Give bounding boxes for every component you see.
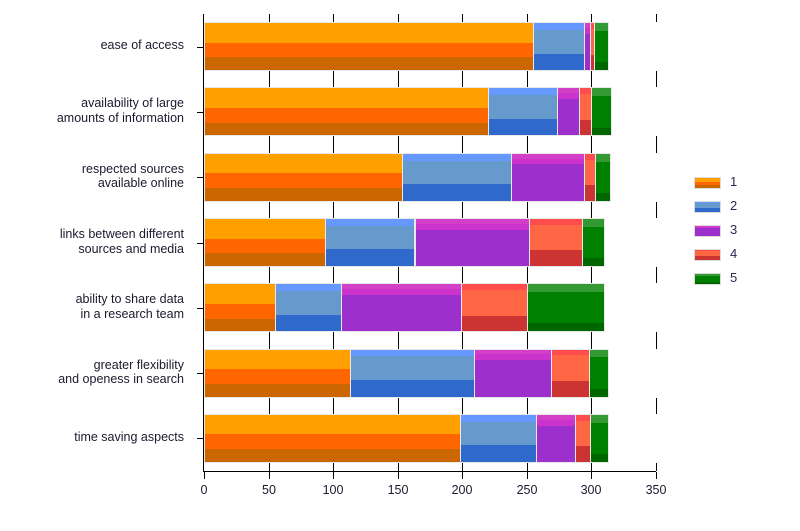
- bar-segment: [582, 218, 605, 267]
- category-label: availability of large amounts of informa…: [57, 96, 184, 125]
- bar-segment-shade: [576, 446, 590, 463]
- category-axis-labels: ease of accessavailability of large amou…: [0, 0, 196, 531]
- gridline-segment: [462, 267, 463, 283]
- bar-segment-shade: [205, 219, 325, 239]
- x-axis-tick: [398, 472, 399, 479]
- gridline-segment: [462, 332, 463, 348]
- gridline-segment: [591, 463, 592, 471]
- bar-segment-shade: [595, 62, 608, 71]
- gridline-segment: [398, 202, 399, 218]
- gridline-segment: [398, 398, 399, 414]
- bar-segment-shade: [585, 160, 596, 186]
- gridline-segment: [269, 14, 270, 22]
- gridline-segment: [398, 71, 399, 87]
- gridline-segment: [527, 71, 528, 87]
- y-axis-tick: [197, 308, 204, 309]
- x-axis-tick: [462, 472, 463, 479]
- bar-segment-shade: [205, 123, 488, 137]
- bar-segment-shade: [583, 258, 604, 267]
- bar-segment-shade: [205, 43, 533, 58]
- bar-segment-shade: [512, 164, 583, 201]
- gridline-segment: [462, 136, 463, 152]
- bar-segment-shade: [534, 30, 583, 54]
- x-axis-tick: [656, 472, 657, 479]
- bar-segment-shade: [276, 315, 341, 333]
- legend-swatch: [694, 225, 721, 237]
- gridline-segment: [269, 202, 270, 218]
- bar-segment-shade: [530, 250, 582, 267]
- legend-item[interactable]: 3: [694, 221, 790, 245]
- gridline-segment: [527, 136, 528, 152]
- bar-segment-shade: [489, 119, 556, 137]
- bar-segment-shade: [205, 284, 275, 304]
- bar-segment-shade: [461, 422, 536, 446]
- bar-segment: [204, 22, 534, 71]
- bar-segment: [204, 349, 351, 398]
- bar-segment: [341, 283, 462, 332]
- legend-swatch-shade: [695, 282, 720, 285]
- legend-label: 4: [730, 246, 737, 261]
- bar-segment-shade: [416, 230, 530, 267]
- legend-swatch-shade: [695, 228, 720, 236]
- bar-segment: [551, 349, 589, 398]
- bar-segment-shade: [552, 355, 588, 381]
- legend-swatch-shade: [695, 208, 720, 212]
- gridline-segment: [591, 136, 592, 152]
- bar-segment-shade: [205, 415, 460, 435]
- bar-segment: [204, 87, 489, 136]
- x-axis-line: [204, 471, 656, 472]
- bar-segment-shade: [205, 304, 275, 319]
- bar-segment-shade: [590, 357, 608, 389]
- bar-segment: [204, 153, 403, 202]
- bar-segment: [590, 414, 609, 463]
- x-axis-tick-label: 350: [646, 483, 667, 497]
- gridline-segment: [591, 202, 592, 218]
- bar-segment: [536, 414, 576, 463]
- y-axis-tick: [197, 373, 204, 374]
- bar-segment: [594, 22, 609, 71]
- bar-segment: [275, 283, 342, 332]
- gridline-segment: [333, 14, 334, 22]
- bar-segment-shade: [351, 356, 474, 380]
- bar-segment-shade: [205, 88, 488, 108]
- legend-swatch-shade: [695, 185, 720, 189]
- gridline-segment: [333, 463, 334, 471]
- gridline-segment: [333, 202, 334, 218]
- bar-segment-shade: [585, 185, 596, 202]
- bar-segment-shade: [530, 225, 582, 251]
- bar-segment-shade: [205, 319, 275, 333]
- gridline-segment: [656, 14, 657, 22]
- bar-segment: [325, 218, 415, 267]
- category-label: ease of access: [101, 38, 184, 53]
- y-axis-tick: [197, 438, 204, 439]
- gridline-segment: [462, 14, 463, 22]
- bar-segment: [591, 87, 611, 136]
- x-axis-tick: [269, 472, 270, 479]
- gridline-segment: [527, 398, 528, 414]
- bar-segment-shade: [489, 95, 556, 119]
- bar-segment-shade: [351, 380, 474, 398]
- legend-item[interactable]: 5: [694, 269, 790, 293]
- x-axis-tick-label: 50: [262, 483, 276, 497]
- bar-segment-shade: [596, 193, 609, 202]
- bar-segment-shade: [342, 295, 461, 332]
- bar-segment-shade: [205, 173, 402, 188]
- plot-area: [204, 14, 656, 471]
- category-label: respected sources available online: [82, 162, 184, 191]
- category-label: links between different sources and medi…: [60, 227, 184, 256]
- gridline-segment: [462, 71, 463, 87]
- bar-segment-shade: [534, 54, 583, 72]
- bar-segment-shade: [403, 184, 512, 202]
- legend-label: 3: [730, 222, 737, 237]
- bar-segment-shade: [592, 96, 610, 128]
- x-axis-tick-label: 250: [517, 483, 538, 497]
- bar-segment: [557, 87, 580, 136]
- x-axis-tick-label: 200: [452, 483, 473, 497]
- gridline-segment: [527, 267, 528, 283]
- gridline-segment: [269, 136, 270, 152]
- legend-item[interactable]: 4: [694, 245, 790, 269]
- legend-label: 1: [730, 174, 737, 189]
- gridline-segment: [656, 463, 657, 471]
- gridline-segment: [656, 71, 657, 87]
- bar-segment-shade: [205, 350, 350, 370]
- y-axis-tick: [197, 47, 204, 48]
- bar-segment-shade: [595, 31, 608, 63]
- bar-segment-shade: [462, 290, 527, 316]
- bar-segment-shade: [580, 120, 592, 137]
- gridline-segment: [269, 71, 270, 87]
- legend-swatch-shade: [695, 256, 720, 260]
- bar-segment-shade: [475, 360, 551, 397]
- bar-segment-shade: [205, 434, 460, 449]
- bar-segment-shade: [461, 445, 536, 463]
- bar-segment: [415, 218, 531, 267]
- bar-segment: [589, 349, 609, 398]
- bar-segment-shade: [205, 253, 325, 267]
- gridline-segment: [462, 463, 463, 471]
- legend-swatch: [694, 249, 721, 261]
- legend-item[interactable]: 1: [694, 173, 790, 197]
- bar-segment-shade: [462, 316, 527, 333]
- bar-segment: [402, 153, 513, 202]
- bar-segment-shade: [528, 323, 604, 332]
- bar-segment-shade: [591, 454, 608, 463]
- bar-segment: [488, 87, 557, 136]
- category-label: ability to share data in a research team: [76, 292, 184, 321]
- bar-segment: [461, 283, 528, 332]
- bar-segment-shade: [326, 226, 414, 250]
- bar-segment-shade: [276, 291, 341, 315]
- gridline-segment: [656, 398, 657, 414]
- bar-segment: [579, 87, 593, 136]
- x-axis-tick-label: 300: [581, 483, 602, 497]
- bar-segment-shade: [596, 162, 609, 194]
- gridline-segment: [333, 398, 334, 414]
- x-axis-tick: [333, 472, 334, 479]
- stacked-bar-chart: ease of accessavailability of large amou…: [0, 0, 800, 531]
- gridline-segment: [591, 398, 592, 414]
- gridline-segment: [398, 463, 399, 471]
- bar-segment-shade: [403, 161, 512, 185]
- category-label: time saving aspects: [74, 430, 184, 445]
- bar-segment: [529, 218, 583, 267]
- bar-segment-shade: [583, 227, 604, 259]
- bar-segment-shade: [326, 249, 414, 267]
- bar-segment-shade: [205, 57, 533, 71]
- gridline-segment: [656, 332, 657, 348]
- bar-segment: [204, 218, 326, 267]
- legend: 12345: [694, 173, 790, 293]
- bar-segment: [204, 283, 276, 332]
- gridline-segment: [333, 71, 334, 87]
- bar-segment: [533, 22, 584, 71]
- gridline-segment: [333, 267, 334, 283]
- gridline-segment: [462, 398, 463, 414]
- bar-segment: [575, 414, 591, 463]
- gridline-segment: [656, 136, 657, 152]
- bar-segment: [204, 414, 461, 463]
- x-axis-tick-label: 150: [388, 483, 409, 497]
- gridline-segment: [269, 332, 270, 348]
- bar-segment-shade: [580, 94, 592, 120]
- x-axis-tick: [204, 472, 205, 479]
- bar-segment: [474, 349, 552, 398]
- legend-label: 2: [730, 198, 737, 213]
- x-axis-tick-label: 100: [323, 483, 344, 497]
- gridline-segment: [269, 398, 270, 414]
- bar-segment-shade: [205, 154, 402, 174]
- bar-segment-shade: [205, 449, 460, 463]
- legend-swatch: [694, 273, 721, 285]
- gridline-segment: [527, 14, 528, 22]
- bar-segment-shade: [528, 292, 604, 324]
- gridline-segment: [333, 136, 334, 152]
- bar-segment-shade: [205, 239, 325, 254]
- gridline-segment: [269, 463, 270, 471]
- gridline-segment: [333, 332, 334, 348]
- category-label: greater flexibility and openess in searc…: [58, 358, 184, 387]
- bar-segment: [460, 414, 537, 463]
- bar-segment-shade: [205, 23, 533, 43]
- legend-label: 5: [730, 270, 737, 285]
- bar-segment: [527, 283, 605, 332]
- bar-segment: [595, 153, 610, 202]
- gridline-segment: [462, 202, 463, 218]
- x-axis-tick: [591, 472, 592, 479]
- x-axis-tick: [527, 472, 528, 479]
- gridline-segment: [398, 267, 399, 283]
- bar-segment: [350, 349, 475, 398]
- legend-swatch: [694, 177, 721, 189]
- legend-item[interactable]: 2: [694, 197, 790, 221]
- bar-segment-shade: [537, 426, 575, 463]
- y-axis-tick: [197, 177, 204, 178]
- gridline-segment: [591, 332, 592, 348]
- gridline-segment: [398, 14, 399, 22]
- bar-segment-shade: [576, 421, 590, 447]
- bar-segment-shade: [552, 381, 588, 398]
- gridline-segment: [527, 332, 528, 348]
- bar-segment-shade: [590, 389, 608, 398]
- legend-swatch: [694, 201, 721, 213]
- bar-segment-shade: [205, 188, 402, 202]
- gridline-segment: [527, 463, 528, 471]
- bar-segment-shade: [205, 369, 350, 384]
- y-axis-tick: [197, 243, 204, 244]
- gridline-segment: [591, 71, 592, 87]
- x-axis-tick-label: 0: [201, 483, 208, 497]
- y-axis-tick: [197, 112, 204, 113]
- bar-segment-shade: [205, 384, 350, 398]
- gridline-segment: [591, 267, 592, 283]
- bar-segment-shade: [558, 99, 579, 136]
- gridline-segment: [527, 202, 528, 218]
- bar-segment-shade: [591, 423, 608, 455]
- gridline-segment: [398, 332, 399, 348]
- gridline-segment: [591, 14, 592, 22]
- gridline-segment: [398, 136, 399, 152]
- bar-segment-shade: [592, 128, 610, 137]
- bar-segment-shade: [205, 108, 488, 123]
- gridline-segment: [269, 267, 270, 283]
- gridline-segment: [656, 202, 657, 218]
- bar-segment: [511, 153, 584, 202]
- gridline-segment: [656, 267, 657, 283]
